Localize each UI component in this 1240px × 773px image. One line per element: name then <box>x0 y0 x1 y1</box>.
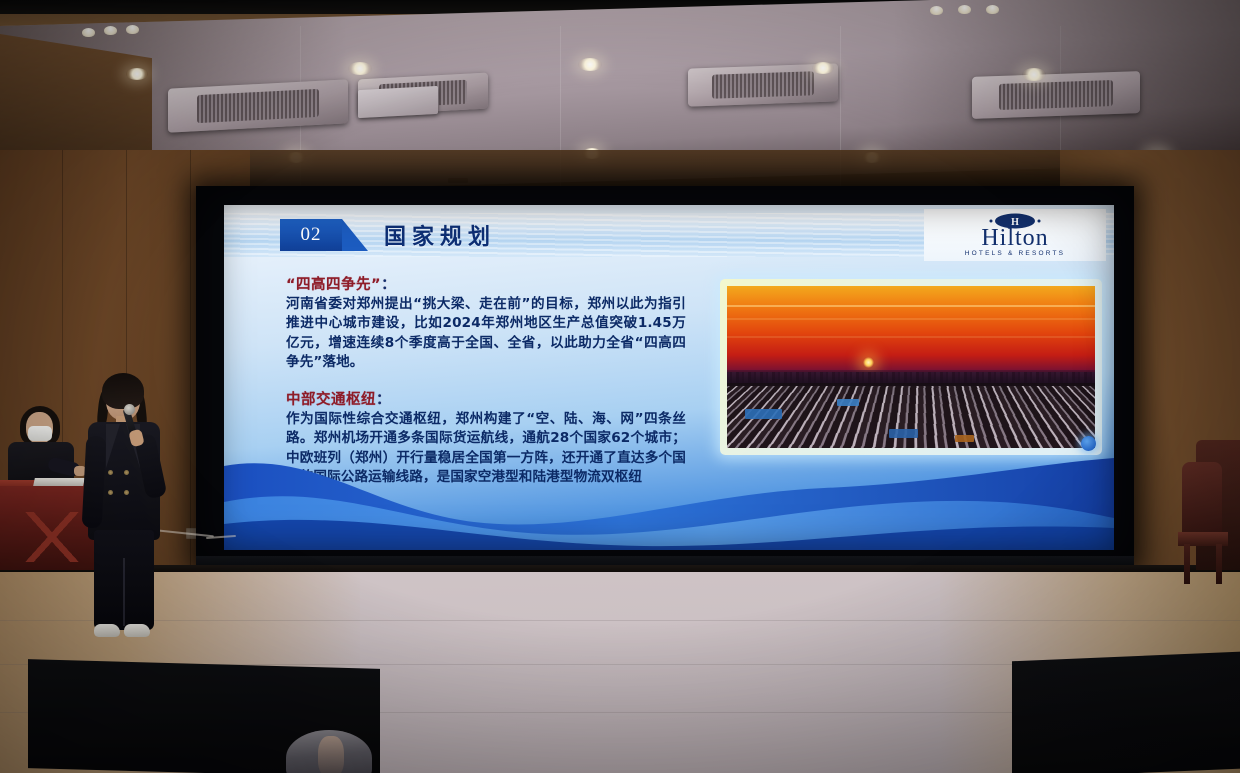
chair-leg <box>1184 544 1190 584</box>
ceiling-downlight <box>1022 68 1046 81</box>
slide-text-column: “四高四争先”： 河南省委对郑州提出“挑大梁、走在前”的目标，郑州以此为指引推进… <box>286 273 686 487</box>
jacket-button <box>124 470 129 475</box>
ceiling-downlight <box>348 62 372 75</box>
blue-wave-decoration <box>224 458 1114 550</box>
ceiling-downlight <box>930 6 943 15</box>
shoe <box>94 624 120 637</box>
shoe <box>124 624 150 637</box>
block-1-heading: “四高四争先”： <box>286 273 686 294</box>
chevron-right-icon <box>342 219 368 251</box>
ceiling-ac-unit <box>972 71 1140 119</box>
trouser-seam <box>123 558 125 626</box>
foreground-chair-back <box>1012 651 1240 773</box>
ceiling-downlight <box>82 28 95 37</box>
presenter-with-microphone <box>76 378 172 650</box>
page-title: 国家规划 <box>384 219 496 251</box>
chair-leg <box>1216 544 1222 584</box>
hilton-logo: H Hilton HOTELS & RESORTS <box>924 209 1106 261</box>
jacket-button <box>108 470 113 475</box>
ceiling-ac-unit <box>168 79 348 132</box>
presentation-room-scene: 02 国家规划 H Hilton HOTELS & RESORTS “四高四争先… <box>0 0 1240 773</box>
slide-block-1: “四高四争先”： 河南省委对郑州提出“挑大梁、走在前”的目标，郑州以此为指引推进… <box>286 273 686 372</box>
slide-section-number: 02 <box>280 219 342 251</box>
wooden-chair-right <box>1178 462 1230 582</box>
ceiling-vent-panel <box>358 86 438 118</box>
block-1-body: 河南省委对郑州提出“挑大梁、走在前”的目标，郑州以此为指引推进中心城市建设，比如… <box>286 295 686 372</box>
hilton-logo-tagline: HOTELS & RESORTS <box>924 250 1106 257</box>
jacket-button <box>108 490 113 495</box>
microphone-head <box>124 404 135 415</box>
ceiling-downlight <box>126 25 139 34</box>
ceiling-downlight <box>578 58 602 71</box>
slide-canvas: 02 国家规划 H Hilton HOTELS & RESORTS “四高四争先… <box>224 205 1114 550</box>
face-mask <box>28 426 52 441</box>
hair <box>102 373 144 409</box>
photo-info-badge[interactable] <box>1081 436 1096 451</box>
slide-body: “四高四争先”： 河南省委对郑州提出“挑大梁、走在前”的目标，郑州以此为指引推进… <box>224 261 1114 550</box>
ceiling-downlight <box>812 62 834 74</box>
block-2-heading: 中部交通枢纽： <box>286 388 686 409</box>
ceiling-downlight <box>126 68 148 80</box>
chair-backrest <box>1182 462 1222 538</box>
audience-hair-highlight <box>318 736 344 773</box>
ceiling-downlight <box>986 5 999 14</box>
ceiling-downlight <box>958 5 971 14</box>
jacket-button <box>124 490 129 495</box>
lapel <box>106 424 120 468</box>
hilton-logo-text: Hilton <box>924 225 1106 252</box>
ceiling-downlight <box>104 26 117 35</box>
zhengzhou-railway-yard-sunset-photo <box>720 279 1102 455</box>
